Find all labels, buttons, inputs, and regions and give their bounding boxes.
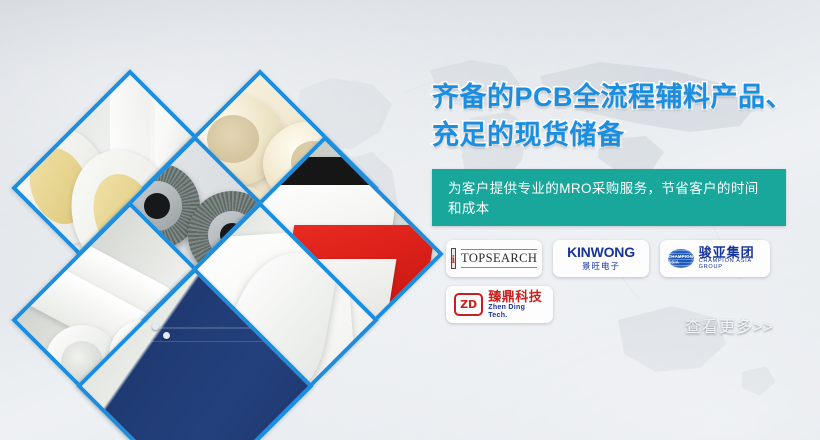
logo-champion-asia[interactable]: CHAMPION ASIA 骏亚集团 CHAMPION ASIA GROUP	[660, 240, 770, 277]
champion-globe-text: CHAMPION ASIA	[668, 253, 694, 264]
zhen-ding-label-en: Zhen Ding Tech.	[488, 304, 545, 319]
headline-line-2: 充足的现货储备	[432, 116, 820, 154]
headline-line-1: 齐备的PCB全流程辅料产品、	[432, 78, 820, 116]
zhen-ding-label-cn: 臻鼎科技	[488, 290, 545, 304]
product-collage: JIE	[0, 0, 430, 440]
champion-text-block: 骏亚集团 CHAMPION ASIA GROUP	[699, 246, 762, 271]
zhen-ding-badge-icon: ZD	[454, 293, 483, 316]
champion-label-en: CHAMPION ASIA GROUP	[699, 259, 762, 271]
logo-kinwong[interactable]: KINWONG 景旺电子	[553, 240, 649, 277]
logo-zhen-ding[interactable]: ZD 臻鼎科技 Zhen Ding Tech.	[446, 286, 553, 323]
zhen-ding-text-block: 臻鼎科技 Zhen Ding Tech.	[488, 290, 545, 319]
partner-logo-row-1: i TOPSEARCH KINWONG 景旺电子 CHAMPION ASIA 骏…	[446, 240, 806, 277]
promo-banner: JIE 齐备的PCB全流程	[0, 0, 820, 440]
kinwong-label-cn: 景旺电子	[582, 260, 620, 272]
logo-topsearch[interactable]: i TOPSEARCH	[446, 240, 542, 277]
topsearch-mark-icon: i	[451, 248, 456, 269]
kinwong-label: KINWONG	[567, 245, 635, 260]
champion-label-cn: 骏亚集团	[699, 246, 762, 260]
topsearch-label: TOPSEARCH	[461, 249, 537, 268]
banner-subtitle-bar: 为客户提供专业的MRO采购服务，节省客户的时间和成本	[432, 169, 786, 226]
banner-headline: 齐备的PCB全流程辅料产品、 充足的现货储备	[432, 78, 820, 155]
banner-copy: 齐备的PCB全流程辅料产品、 充足的现货储备 为客户提供专业的MRO采购服务，节…	[432, 78, 820, 226]
view-more-link[interactable]: 查看更多>>	[685, 313, 774, 337]
globe-icon: CHAMPION ASIA	[668, 249, 694, 268]
